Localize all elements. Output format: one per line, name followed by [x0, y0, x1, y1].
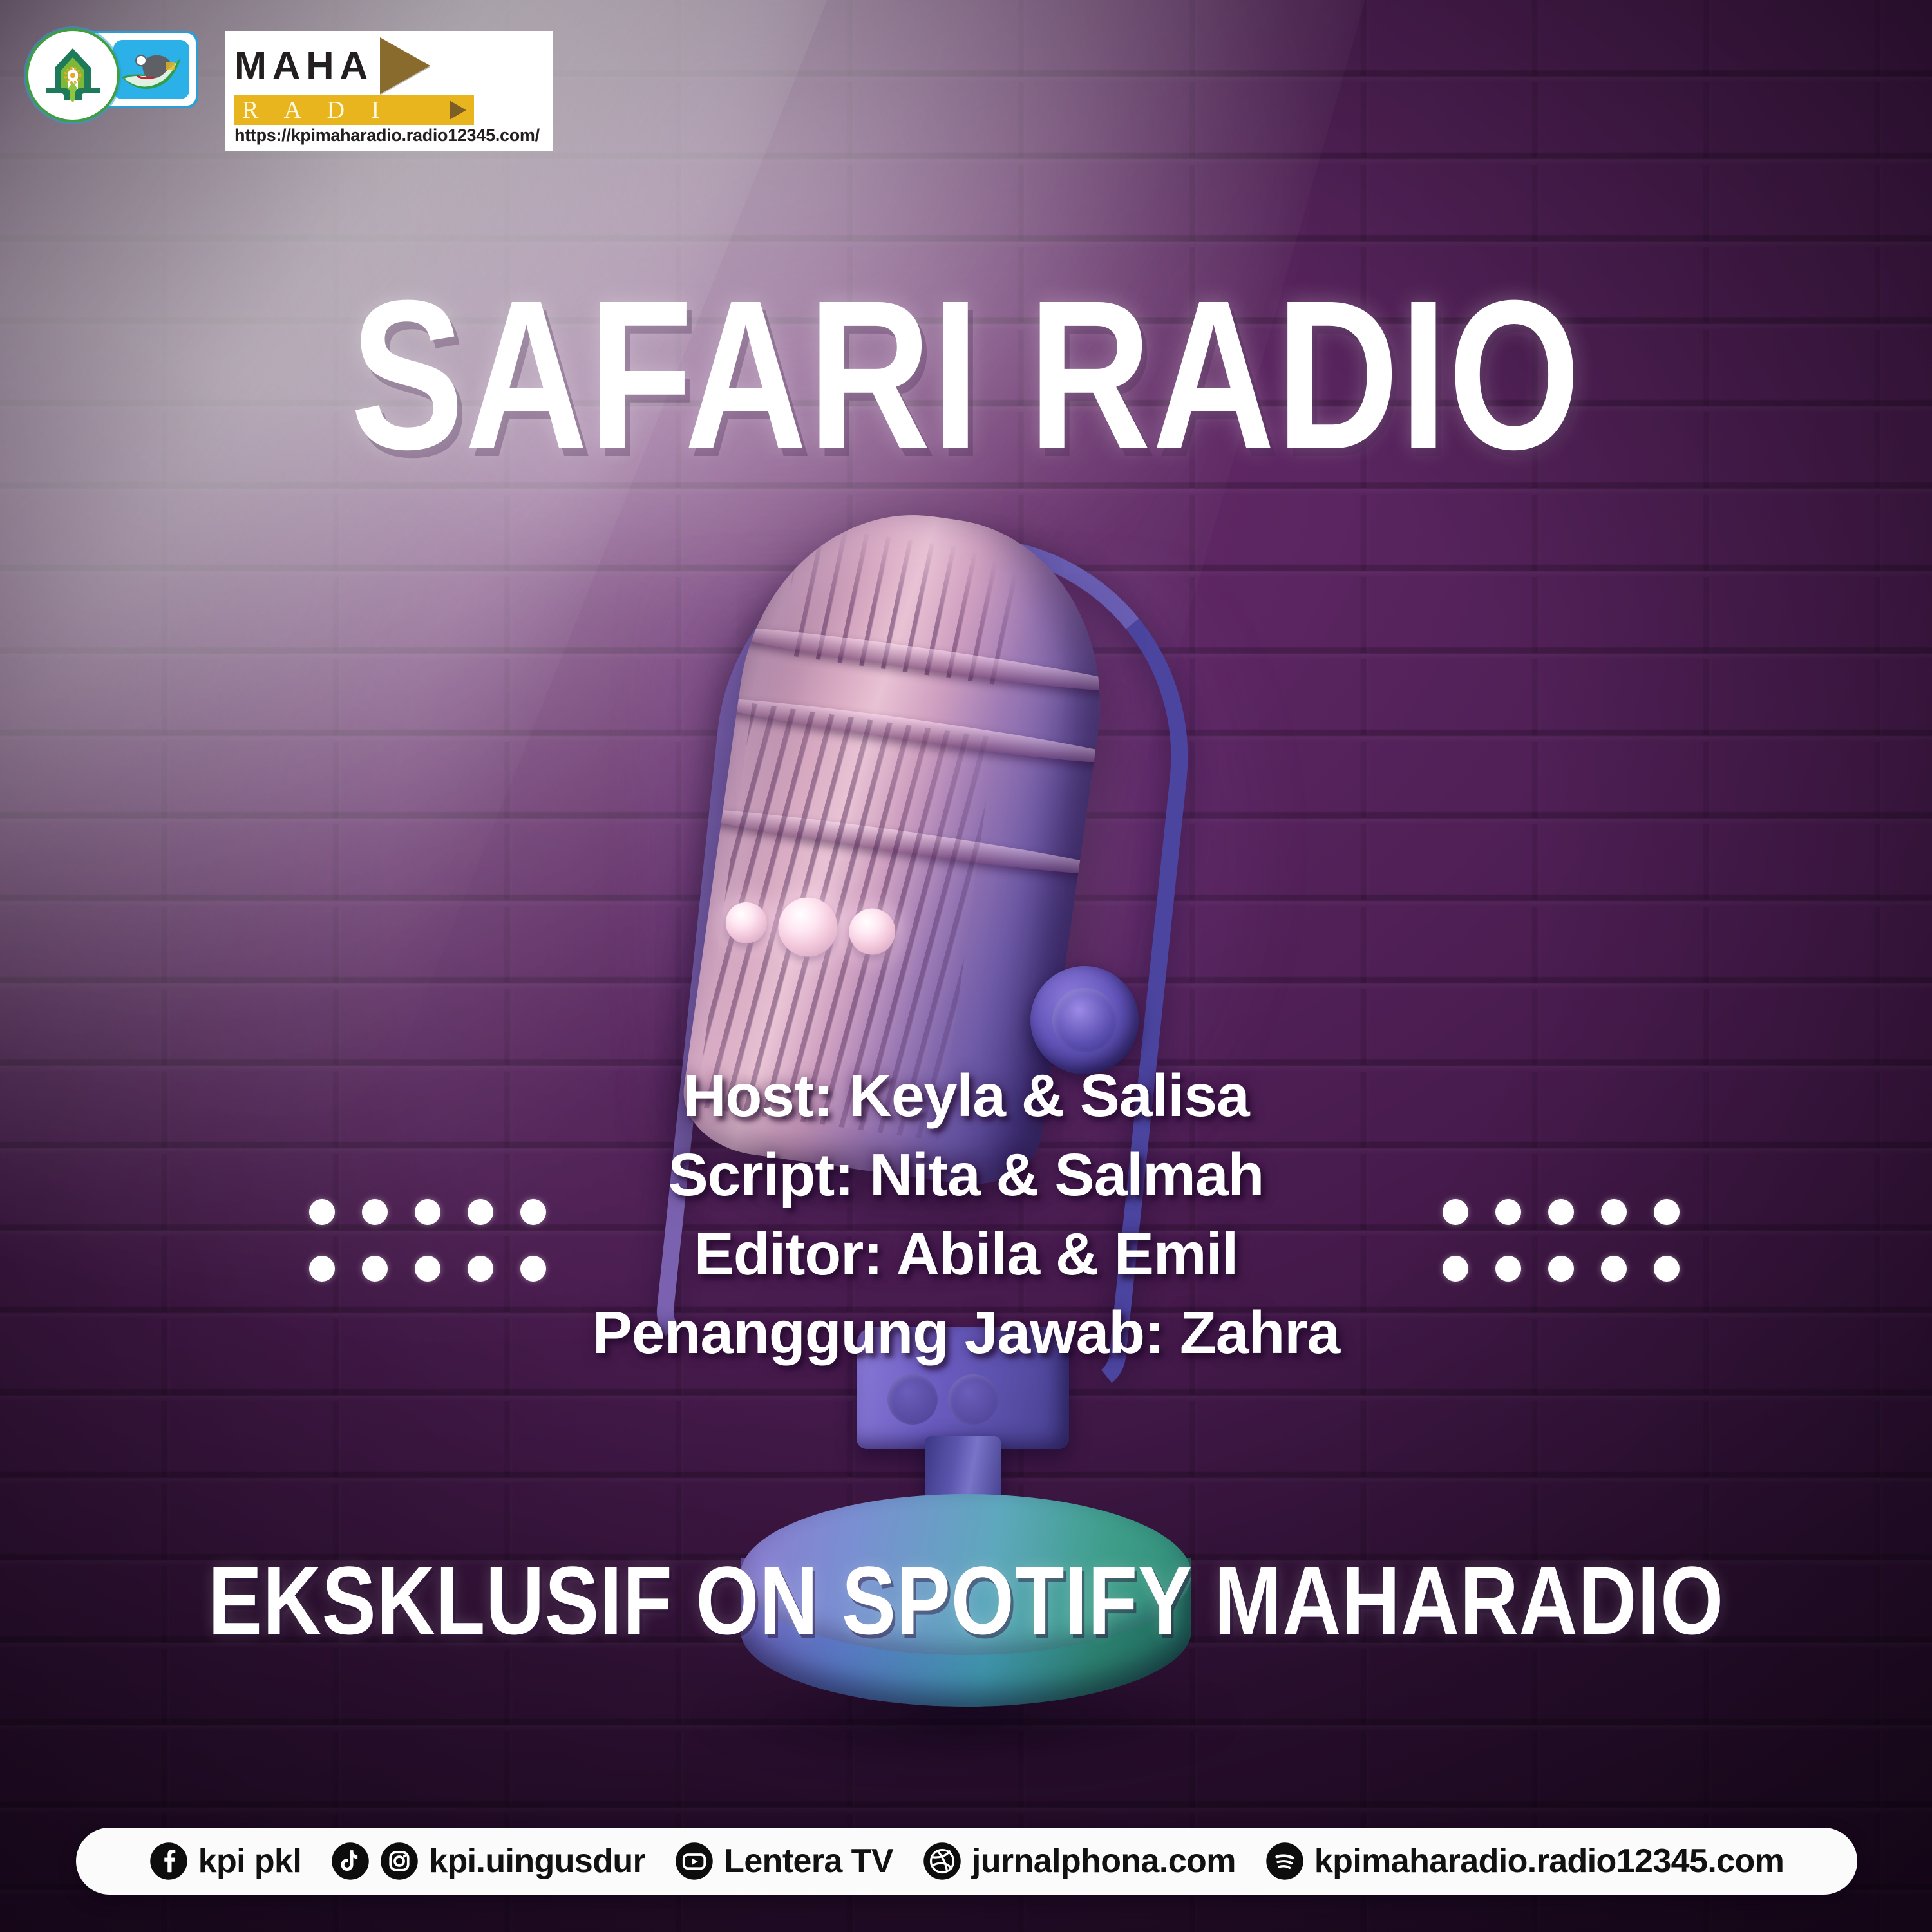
- maha-wordmark-row: MAHA: [234, 37, 544, 94]
- uin-gus-dur-logo: [113, 40, 189, 99]
- credit-line-editor: Editor: Abila & Emil: [0, 1215, 1932, 1294]
- microphone-knobs: [724, 892, 898, 963]
- maha-radio-url: https://kpimaharadio.radio12345.com/: [234, 126, 544, 146]
- youtube-icon: [675, 1842, 714, 1880]
- tagline: EKSKLUSIF ON SPOTIFY MAHARADIO: [155, 1552, 1777, 1649]
- social-label-instagram: kpi.uingusdur: [429, 1842, 645, 1880]
- microphone-knob: [848, 907, 897, 956]
- page-title: SAFARI RADIO: [193, 277, 1739, 473]
- maha-wordmark: MAHA: [234, 46, 374, 85]
- facebook-icon: [149, 1842, 188, 1880]
- credit-line-penanggung-jawab: Penanggung Jawab: Zahra: [0, 1293, 1932, 1372]
- social-footer-bar: kpi pkl kpi.uingusdur: [76, 1828, 1857, 1895]
- social-item-facebook[interactable]: kpi pkl: [149, 1842, 302, 1880]
- instagram-icon: [380, 1842, 419, 1880]
- social-item-tiktok-instagram[interactable]: kpi.uingusdur: [331, 1842, 645, 1880]
- dribbble-icon: [923, 1842, 961, 1880]
- social-item-dribbble[interactable]: jurnalphona.com: [923, 1842, 1236, 1880]
- social-label-dribbble: jurnalphona.com: [972, 1842, 1236, 1880]
- maha-radio-logo: MAHA R A D I https://kpimaharadio.radio1…: [225, 31, 553, 151]
- credit-line-host: Host: Keyla & Salisa: [0, 1056, 1932, 1135]
- social-label-facebook: kpi pkl: [198, 1842, 302, 1880]
- institution-logo-card: [50, 31, 198, 108]
- kemenag-logo: [26, 28, 120, 122]
- play-arrow-icon: [380, 37, 430, 94]
- social-label-youtube: Lentera TV: [724, 1842, 893, 1880]
- microphone-knob: [724, 901, 768, 945]
- small-play-icon: [450, 100, 466, 120]
- spotify-icon: [1265, 1842, 1304, 1880]
- social-label-spotify: kpimaharadio.radio12345.com: [1314, 1842, 1784, 1880]
- logo-row: MAHA R A D I https://kpimaharadio.radio1…: [50, 31, 553, 151]
- radio-wordmark: R A D I: [242, 98, 390, 122]
- tiktok-icon: [331, 1842, 370, 1880]
- credit-line-script: Script: Nita & Salmah: [0, 1135, 1932, 1215]
- credits-block: Host: Keyla & Salisa Script: Nita & Salm…: [0, 1056, 1932, 1372]
- social-item-youtube[interactable]: Lentera TV: [675, 1842, 893, 1880]
- maha-radio-bar: R A D I: [234, 95, 474, 125]
- microphone-knob: [776, 895, 839, 958]
- poster-canvas: MAHA R A D I https://kpimaharadio.radio1…: [0, 0, 1932, 1932]
- social-item-spotify[interactable]: kpimaharadio.radio12345.com: [1265, 1842, 1784, 1880]
